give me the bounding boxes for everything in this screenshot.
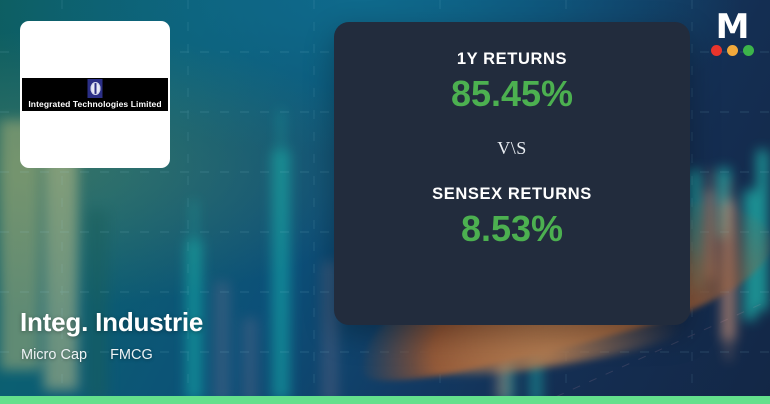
primary-return-label: 1Y RETURNS: [457, 50, 567, 69]
versus-divider: V\S: [497, 138, 527, 159]
tag-sector: FMCG: [110, 347, 153, 363]
company-title: Integ. Industrie: [20, 307, 203, 338]
brand-letter-m: M: [706, 12, 758, 42]
company-logo-text: Integrated Technologies Limited: [28, 99, 161, 111]
benchmark-return-value: 8.53%: [461, 209, 563, 249]
company-logo-card: Integrated Technologies Limited: [20, 21, 170, 168]
company-emblem-icon: [88, 79, 103, 98]
red-dot-icon: [711, 45, 722, 56]
emblem-ring-shape: [90, 82, 100, 95]
returns-comparison-card: 1Y RETURNS 85.45% V\S SENSEX RETURNS 8.5…: [334, 22, 690, 325]
bottom-accent-bar: [0, 396, 770, 404]
company-tags: Micro Cap FMCG: [21, 347, 153, 363]
share-card: Integrated Technologies Limited 1Y RETUR…: [0, 0, 770, 404]
company-logo-band: Integrated Technologies Limited: [22, 78, 168, 111]
brand-logo: M: [706, 12, 758, 62]
orange-dot-icon: [727, 45, 738, 56]
tag-market-cap: Micro Cap: [21, 347, 87, 363]
benchmark-return-label: SENSEX RETURNS: [432, 185, 592, 204]
primary-return-value: 85.45%: [451, 74, 573, 114]
brand-dots: [706, 45, 758, 56]
green-dot-icon: [743, 45, 754, 56]
